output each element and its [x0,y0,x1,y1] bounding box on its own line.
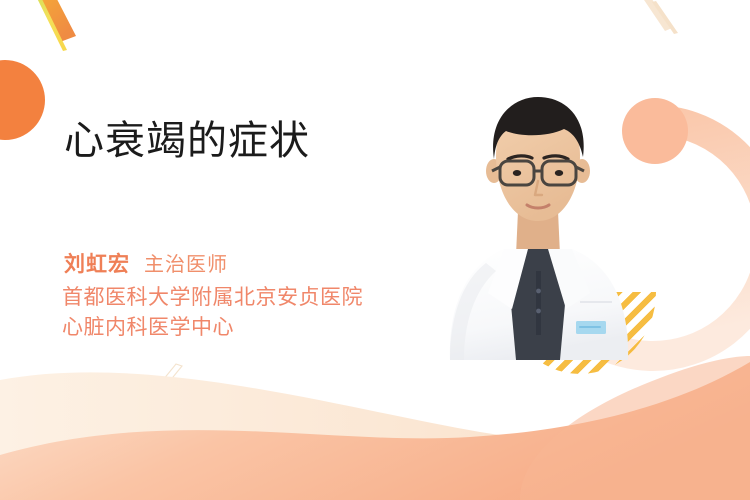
coat-pocket [580,301,612,303]
doctor-name: 刘虹宏 [64,253,130,276]
yellow-diagonal-streak [33,0,67,51]
page-title: 心衰竭的症状 [64,118,310,164]
doctor-portrait [432,95,644,360]
bottom-salmon-wave [0,362,750,500]
bottom-salmon-wave-accent [520,356,750,500]
eye-left [513,170,521,176]
doctor-byline: 刘虹宏主治医师 [64,248,228,278]
affiliation-line-1: 首都医科大学附属北京安贞医院 [62,283,363,313]
cream-diagonal-streaks [640,0,678,34]
name-badge-line [579,326,601,328]
orange-diagonal-streak [30,0,76,42]
slide-card: 心衰竭的症状 刘虹宏主治医师 首都医科大学附属北京安贞医院 心脏内科医学中心 [0,0,750,500]
doctor-portrait-illustration [432,95,644,360]
cream-diagonal-streak [150,364,182,398]
shirt-button [536,289,541,294]
shirt-placket [536,271,541,335]
eye-right [555,170,563,176]
shirt-button [536,309,541,314]
affiliation-line-2: 心脏内科医学中心 [62,313,363,343]
orange-circle [0,60,45,140]
doctor-role: 主治医师 [144,254,228,276]
doctor-affiliation: 首都医科大学附属北京安贞医院 心脏内科医学中心 [62,283,363,343]
bottom-cream-wave [0,372,750,500]
